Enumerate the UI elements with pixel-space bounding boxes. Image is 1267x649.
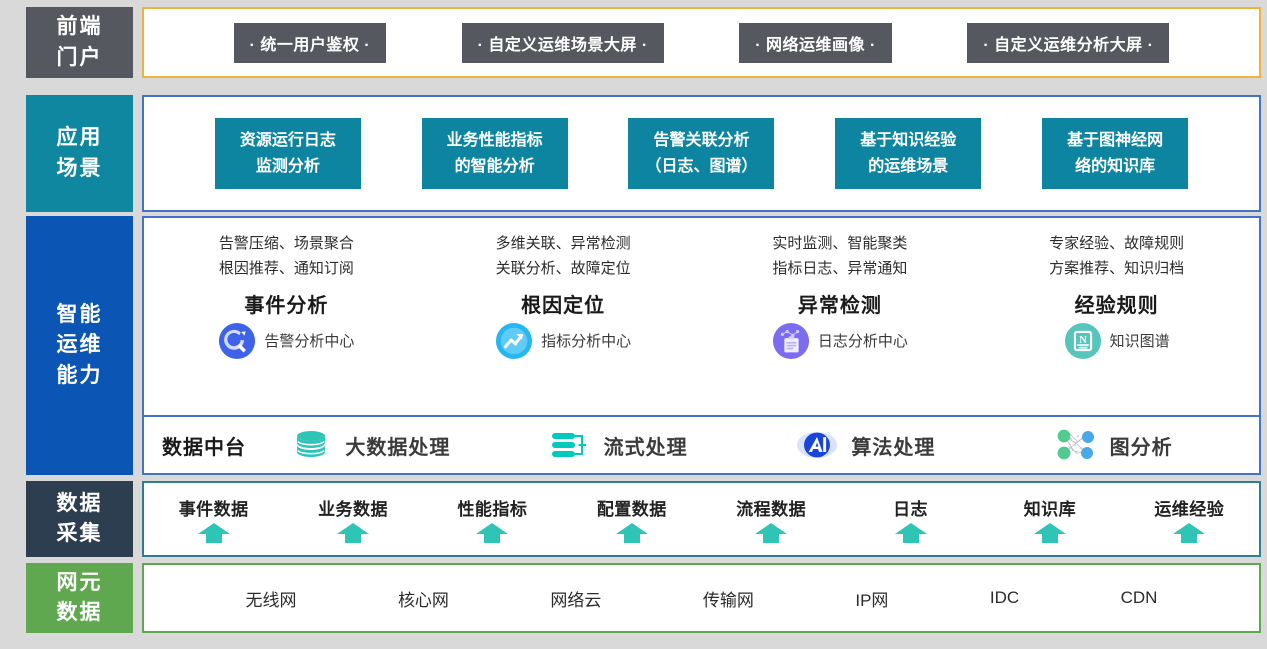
data-platform-title: 数据中台 [162,431,246,460]
rail-line: 场景 [57,154,103,184]
data-platform-label: 图分析 [1110,431,1173,460]
capability-bullet: 告警压缩、场景聚合 [219,232,354,257]
network-item-core[interactable]: 核心网 [398,586,449,611]
capability-bullet: 专家经验、故障规则 [1049,232,1184,257]
row-application-scenarios: 应用 场景 资源运行日志 监测分析 业务性能指标 的智能分析 告警关联分析 （日… [26,95,1261,212]
capability-column-root-cause: 多维关联、异常检测 关联分析、故障定位 根因定位 指标分析中心 [425,232,702,360]
capability-icon-row[interactable]: N 知识图谱 [1064,322,1170,360]
row-front-portal: 前端 门户 · 统一用户鉴权 · · 自定义运维场景大屏 · · 网络运维画像 … [26,7,1261,78]
data-platform-label: 大数据处理 [345,431,450,460]
network-item-cloud[interactable]: 网络云 [550,586,601,611]
collect-item-ops-experience[interactable]: 运维经验 [1120,483,1259,555]
collect-label: 运维经验 [1154,495,1224,520]
portal-chip-custom-analysis-dashboard[interactable]: · 自定义运维分析大屏 · [967,23,1169,63]
up-arrow-icon [475,522,509,544]
rail-line: 运维 [57,330,103,360]
scene-chip-line2: 监测分析 [227,154,349,180]
scene-chip-alarm-correlation[interactable]: 告警关联分析 （日志、图谱） [628,118,774,189]
architecture-diagram: 前端 门户 · 统一用户鉴权 · · 自定义运维场景大屏 · · 网络运维画像 … [0,0,1267,649]
metric-trend-icon [495,322,533,360]
collect-item-business-data[interactable]: 业务数据 [283,483,422,555]
rail-line: 采集 [57,519,103,549]
scene-chip-line1: 基于图神经网 [1054,128,1176,154]
rail-data-collection: 数据 采集 [26,481,133,557]
alert-magnifier-icon [218,322,256,360]
network-item-cdn[interactable]: CDN [1121,588,1158,608]
up-arrow-icon [1033,522,1067,544]
scene-chip-line2: 络的知识库 [1054,154,1176,180]
rail-line: 应用 [57,123,103,153]
capability-title: 经验规则 [1075,289,1159,318]
data-platform-item-algorithm[interactable]: 算法处理 [742,428,990,462]
rail-application-scenarios: 应用 场景 [26,95,133,212]
capability-icon-label: 指标分析中心 [541,330,631,351]
collect-label: 知识库 [1024,495,1077,520]
rail-line: 数据 [57,489,103,519]
graph-network-icon [1054,428,1098,462]
capability-icon-label: 知识图谱 [1110,330,1170,351]
front-portal-panel: · 统一用户鉴权 · · 自定义运维场景大屏 · · 网络运维画像 · · 自定… [142,7,1261,78]
scene-chip-line1: 资源运行日志 [227,128,349,154]
scene-chip-knowledge-ops[interactable]: 基于知识经验 的运维场景 [835,118,981,189]
rail-line: 能力 [57,361,103,391]
capability-bullet: 多维关联、异常检测 [496,232,631,257]
scene-chip-resource-log[interactable]: 资源运行日志 监测分析 [215,118,361,189]
capability-bullet: 指标日志、异常通知 [772,257,907,282]
stream-icon [548,428,592,462]
collect-item-log[interactable]: 日志 [841,483,980,555]
capability-column-anomaly-detection: 实时监测、智能聚类 指标日志、异常通知 异常检测 [702,232,979,360]
network-item-transport[interactable]: 传输网 [703,586,754,611]
scene-chip-line1: 基于知识经验 [847,128,969,154]
capability-bullet: 实时监测、智能聚类 [772,232,907,257]
rail-line: 智能 [57,300,103,330]
rail-line: 数据 [57,598,103,628]
capability-icon-label: 告警分析中心 [264,330,354,351]
aiops-stack: 告警压缩、场景聚合 根因推荐、通知订阅 事件分析 [142,216,1261,475]
collect-label: 日志 [893,495,928,520]
capability-title: 异常检测 [798,289,882,318]
data-platform-panel: 数据中台 [142,417,1261,475]
up-arrow-icon [894,522,928,544]
capability-icon-row[interactable]: 日志分析中心 [772,322,908,360]
scene-chip-line2: 的智能分析 [434,154,556,180]
capability-bullet: 方案推荐、知识归档 [1049,257,1184,282]
data-platform-item-bigdata[interactable]: 大数据处理 [246,428,494,462]
rail-network-element-data: 网元 数据 [26,563,133,633]
application-scenarios-panel: 资源运行日志 监测分析 业务性能指标 的智能分析 告警关联分析 （日志、图谱） … [142,95,1261,212]
collect-label: 业务数据 [318,495,388,520]
svg-text:N: N [1079,334,1087,345]
rail-line: 前端 [57,12,103,42]
scene-chip-line1: 业务性能指标 [434,128,556,154]
up-arrow-icon [336,522,370,544]
collect-item-event-data[interactable]: 事件数据 [144,483,283,555]
log-clipboard-icon [772,322,810,360]
scene-chip-gnn-knowledge-base[interactable]: 基于图神经网 络的知识库 [1042,118,1188,189]
data-platform-item-stream[interactable]: 流式处理 [494,428,742,462]
portal-chip-custom-ops-dashboard[interactable]: · 自定义运维场景大屏 · [462,23,664,63]
collect-label: 事件数据 [179,495,249,520]
capability-column-experience-rules: 专家经验、故障规则 方案推荐、知识归档 经验规则 N [978,232,1255,360]
collect-label: 配置数据 [597,495,667,520]
ai-icon [795,428,839,462]
capability-title: 根因定位 [521,289,605,318]
collect-item-process-data[interactable]: 流程数据 [702,483,841,555]
up-arrow-icon [754,522,788,544]
data-platform-label: 算法处理 [851,431,935,460]
capability-title: 事件分析 [244,289,328,318]
capability-column-event-analysis: 告警压缩、场景聚合 根因推荐、通知订阅 事件分析 [148,232,425,360]
scene-chip-line1: 告警关联分析 [640,128,762,154]
row-aiops-capability: 智能 运维 能力 告警压缩、场景聚合 根因推荐、通知订阅 事件分析 [26,216,1261,475]
rail-line: 网元 [57,568,103,598]
up-arrow-icon [615,522,649,544]
capability-icon-row[interactable]: 告警分析中心 [218,322,354,360]
network-item-wireless[interactable]: 无线网 [245,586,296,611]
aiops-capability-panel: 告警压缩、场景聚合 根因推荐、通知订阅 事件分析 [142,216,1261,417]
data-collection-panel: 事件数据 业务数据 性能指标 配置数据 [142,481,1261,557]
up-arrow-icon [1172,522,1206,544]
data-platform-label: 流式处理 [604,431,688,460]
portal-chip-auth[interactable]: · 统一用户鉴权 · [234,23,387,63]
rail-front-portal: 前端 门户 [26,7,133,78]
data-platform-item-graph[interactable]: 图分析 [989,428,1237,462]
scene-chip-business-kpi[interactable]: 业务性能指标 的智能分析 [422,118,568,189]
rail-aiops-capability: 智能 运维 能力 [26,216,133,475]
capability-icon-label: 日志分析中心 [818,330,908,351]
scene-chip-line2: （日志、图谱） [640,154,762,180]
row-network-element-data: 网元 数据 无线网 核心网 网络云 传输网 IP网 IDC CDN [26,563,1261,633]
portal-chip-network-ops-profile[interactable]: · 网络运维画像 · [739,23,892,63]
collect-item-performance-kpi[interactable]: 性能指标 [423,483,562,555]
collect-item-config-data[interactable]: 配置数据 [562,483,701,555]
capability-icon-row[interactable]: 指标分析中心 [495,322,631,360]
network-item-idc[interactable]: IDC [990,588,1019,608]
rail-line: 门户 [57,43,103,73]
database-icon [289,428,333,462]
up-arrow-icon [197,522,231,544]
network-item-ip[interactable]: IP网 [855,586,888,611]
row-data-collection: 数据 采集 事件数据 业务数据 性能指标 [26,481,1261,557]
network-element-panel: 无线网 核心网 网络云 传输网 IP网 IDC CDN [142,563,1261,633]
collect-item-knowledge-base[interactable]: 知识库 [980,483,1119,555]
capability-bullet: 关联分析、故障定位 [496,257,631,282]
knowledge-note-icon: N [1064,322,1102,360]
collect-label: 流程数据 [736,495,806,520]
scene-chip-line2: 的运维场景 [847,154,969,180]
capability-bullet: 根因推荐、通知订阅 [219,257,354,282]
collect-label: 性能指标 [457,495,527,520]
